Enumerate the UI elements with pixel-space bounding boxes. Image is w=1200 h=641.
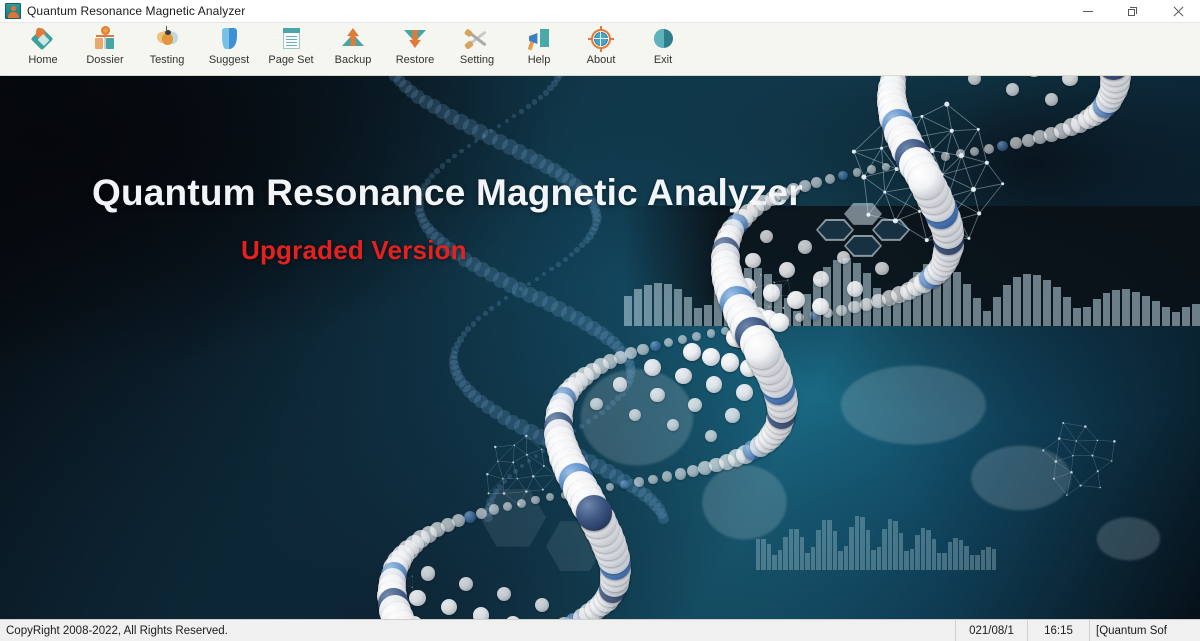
close-button[interactable] [1155,0,1200,22]
status-app-name: [Quantum Sof [1090,620,1200,641]
toolbar-label-backup: Backup [335,54,372,66]
toolbar-label-testing: Testing [150,54,185,66]
application-window: Quantum Resonance Magnetic Analyzer Home [0,0,1200,641]
up-arrow-icon [340,26,366,52]
status-date: 021/08/1 [956,620,1028,641]
exit-circle-icon [650,26,676,52]
title-bar: Quantum Resonance Magnetic Analyzer [0,0,1200,23]
globe-target-icon [588,26,614,52]
toolbar-label-exit: Exit [654,54,672,66]
bug-icon [154,26,180,52]
toolbar-item-home[interactable]: Home [12,23,74,75]
toolbar-item-suggest[interactable]: Suggest [198,23,260,75]
status-bar: CopyRight 2008-2022, All Rights Reserved… [0,619,1200,641]
main-toolbar: Home Dossier Testing Suggest Pa [0,23,1200,76]
toolbar-label-about: About [587,54,616,66]
toolbar-label-suggest: Suggest [209,54,249,66]
app-icon [5,3,21,19]
restore-icon [1128,7,1137,16]
toolbar-item-help[interactable]: Help [508,23,570,75]
minimize-button[interactable] [1065,0,1110,22]
toolbar-item-backup[interactable]: Backup [322,23,384,75]
home-icon [30,26,56,52]
splash-screen: Quantum Resonance Magnetic Analyzer Upgr… [0,76,1200,619]
toolbar-label-help: Help [528,54,551,66]
toolbar-item-restore[interactable]: Restore [384,23,446,75]
toolbar-item-setting[interactable]: Setting [446,23,508,75]
toolbar-item-testing[interactable]: Testing [136,23,198,75]
minimize-icon [1083,11,1093,12]
close-icon [1172,6,1183,17]
tools-icon [464,26,490,52]
toolbar-item-exit[interactable]: Exit [632,23,694,75]
splash-title: Quantum Resonance Magnetic Analyzer [92,172,803,214]
window-title: Quantum Resonance Magnetic Analyzer [27,4,1065,18]
toolbar-item-page-set[interactable]: Page Set [260,23,322,75]
toolbar-label-page-set: Page Set [268,54,313,66]
toolbar-item-dossier[interactable]: Dossier [74,23,136,75]
toolbar-label-setting: Setting [460,54,494,66]
toolbar-label-home: Home [28,54,57,66]
maximize-button[interactable] [1110,0,1155,22]
window-controls [1065,0,1200,22]
status-copyright: CopyRight 2008-2022, All Rights Reserved… [0,620,956,641]
document-icon [278,26,304,52]
splash-subtitle: Upgraded Version [241,235,467,266]
toolbar-label-dossier: Dossier [86,54,123,66]
dossier-icon [92,26,118,52]
toolbar-item-about[interactable]: About [570,23,632,75]
status-time: 16:15 [1028,620,1090,641]
down-arrow-icon [402,26,428,52]
shield-icon [216,26,242,52]
toolbar-label-restore: Restore [396,54,435,66]
megaphone-icon [526,26,552,52]
